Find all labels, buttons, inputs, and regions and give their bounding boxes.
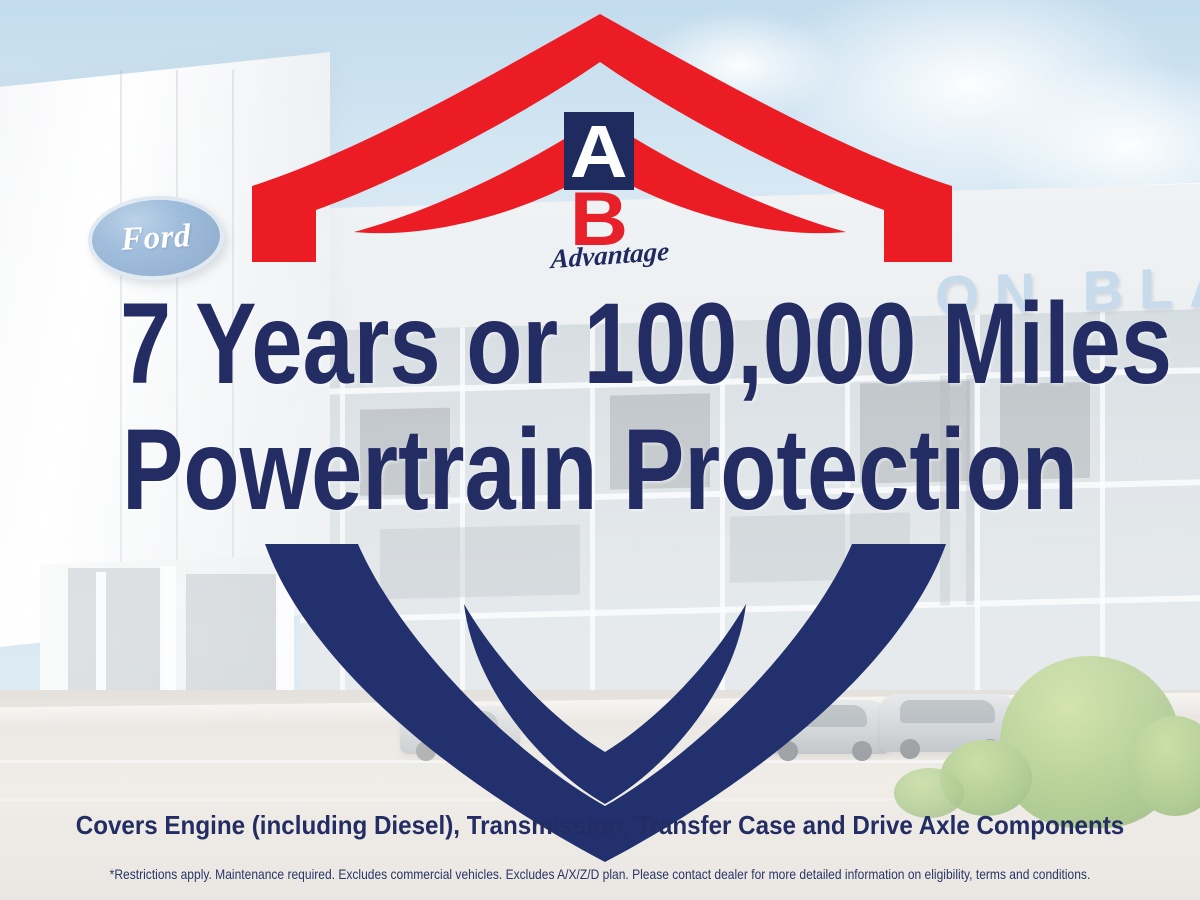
coverage-text: Covers Engine (including Diesel), Transm… [42,810,1158,840]
ab-advantage-logo: A B Advantage [540,112,670,282]
disclaimer-text: *Restrictions apply. Maintenance require… [84,866,1116,883]
logo-letter-a: A [570,122,628,182]
headline-line-2: Powertrain Protection [120,413,1080,528]
promo-banner: Ford ON BLA [0,0,1200,900]
headline-line-1: 7 Years or 100,000 Miles [120,287,1080,402]
